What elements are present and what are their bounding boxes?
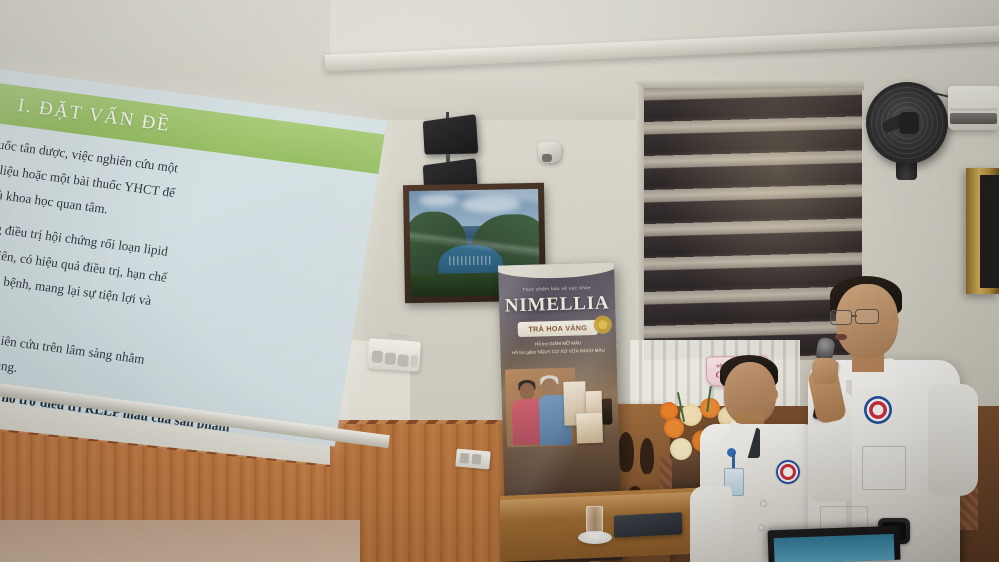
gold-framed-picture [966,168,999,294]
ceiling-speaker [423,114,479,154]
presenter-ear [888,314,899,329]
attendee-ear [768,388,778,401]
air-conditioner [948,86,999,130]
conference-room-photo: I. ĐẶT VẤN ĐỀ nay, bên cạnh việc sử dụng… [0,0,999,562]
presenter-mouth [835,334,847,340]
security-camera [538,142,561,163]
attendee-coat-button [758,524,765,531]
attendee-coat-button [760,500,767,507]
attendee-arm [690,486,732,562]
wall-fan [866,82,948,164]
presenter-hand-holding-mic [812,358,838,384]
eyeglasses-icon [830,310,852,325]
eyeglasses-icon [855,309,879,324]
notebook [614,512,682,538]
laptop-screen [774,534,895,562]
eyeglasses-bridge [851,315,857,317]
water-glass [586,506,603,534]
wall-power-socket[interactable] [455,449,490,470]
presenter-right-sleeve [928,384,978,496]
attendee-coat-logo [776,460,800,484]
floor [0,520,360,562]
laptop[interactable] [767,526,900,562]
presenter-chest-pocket [862,446,906,490]
medical-gas-outlet-panel [367,338,421,372]
slide-title: I. ĐẶT VẤN ĐỀ [16,95,172,137]
presenter-coat-logo [864,396,892,424]
